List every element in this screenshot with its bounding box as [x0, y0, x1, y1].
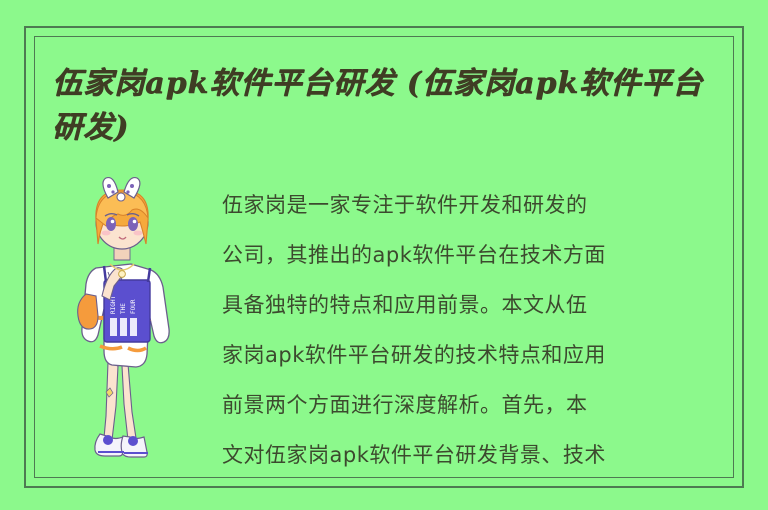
article-card: 伍家岗apk软件平台研发 (伍家岗apk软件平台研发)	[0, 0, 768, 510]
article-body: 伍家岗是一家专注于软件开发和研发的 公司，其推出的apk软件平台在技术方面 具备…	[222, 180, 740, 480]
page-title: 伍家岗apk软件平台研发 (伍家岗apk软件平台研发)	[52, 62, 712, 150]
body-line: 伍家岗是一家专注于软件开发和研发的	[222, 180, 740, 230]
sneakers	[95, 434, 148, 457]
svg-text:THE: THE	[120, 303, 127, 314]
legs	[104, 362, 136, 440]
body-line: 家岗apk软件平台研发的技术特点和应用	[222, 330, 740, 380]
orange-mitt	[78, 294, 98, 329]
svg-text:FOUR: FOUR	[130, 299, 137, 314]
body-line: 前景两个方面进行深度解析。首先，本	[222, 380, 740, 430]
body-line: 公司，其推出的apk软件平台在技术方面	[222, 230, 740, 280]
anime-girl-illustration: RIGHT THE FOUR	[62, 176, 182, 476]
bunny-ear-ribbon	[103, 178, 140, 201]
body-line: 文对伍家岗apk软件平台研发背景、技术	[222, 430, 740, 480]
body-line: 具备独特的特点和应用前景。本文从伍	[222, 280, 740, 330]
